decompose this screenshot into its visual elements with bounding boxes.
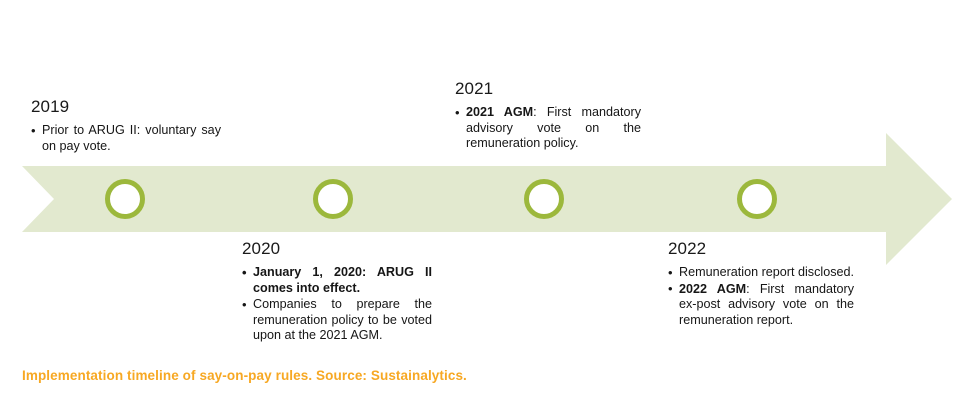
stage-block-2021: 2021 2021 AGM: First mandatory advisory … (455, 78, 641, 153)
stage-year-2021: 2021 (455, 78, 641, 99)
figure-caption: Implementation timeline of say-on-pay ru… (22, 368, 467, 383)
bullet-text: Companies to prepare the remuneration po… (253, 297, 432, 342)
stage-block-2019: 2019 Prior to ARUG II: voluntary say on … (31, 96, 221, 155)
bullet-text: January 1, 2020: ARUG II comes into effe… (253, 265, 432, 295)
stage-year-2020: 2020 (242, 238, 432, 259)
list-item: 2021 AGM: First mandatory advisory vote … (455, 105, 641, 152)
stage-bullets-2021: 2021 AGM: First mandatory advisory vote … (455, 105, 641, 152)
timeline-infographic: 2019 Prior to ARUG II: voluntary say on … (0, 0, 980, 410)
stage-bullets-2019: Prior to ARUG II: voluntary say on pay v… (31, 123, 221, 154)
stage-year-2022: 2022 (668, 238, 854, 259)
milestone-dot-2019[interactable] (105, 179, 145, 219)
stage-bullets-2022: Remuneration report disclosed. 2022 AGM:… (668, 265, 854, 328)
bullet-lead: 2022 AGM (679, 282, 746, 296)
stage-bullets-2020: January 1, 2020: ARUG II comes into effe… (242, 265, 432, 344)
bullet-text: Remuneration report disclosed. (679, 265, 854, 279)
list-item: Companies to prepare the remuneration po… (242, 297, 432, 344)
list-item: January 1, 2020: ARUG II comes into effe… (242, 265, 432, 296)
list-item: 2022 AGM: First mandatory ex-post adviso… (668, 282, 854, 329)
stage-block-2022: 2022 Remuneration report disclosed. 2022… (668, 238, 854, 329)
bullet-text: Prior to ARUG II: voluntary say on pay v… (42, 123, 221, 153)
stage-year-2019: 2019 (31, 96, 221, 117)
bullet-lead: 2021 AGM (466, 105, 533, 119)
stage-block-2020: 2020 January 1, 2020: ARUG II comes into… (242, 238, 432, 345)
milestone-dot-2022[interactable] (737, 179, 777, 219)
milestone-dot-2020[interactable] (313, 179, 353, 219)
milestone-dot-2021[interactable] (524, 179, 564, 219)
list-item: Remuneration report disclosed. (668, 265, 854, 281)
timeline-arrow-shape (0, 0, 980, 410)
list-item: Prior to ARUG II: voluntary say on pay v… (31, 123, 221, 154)
